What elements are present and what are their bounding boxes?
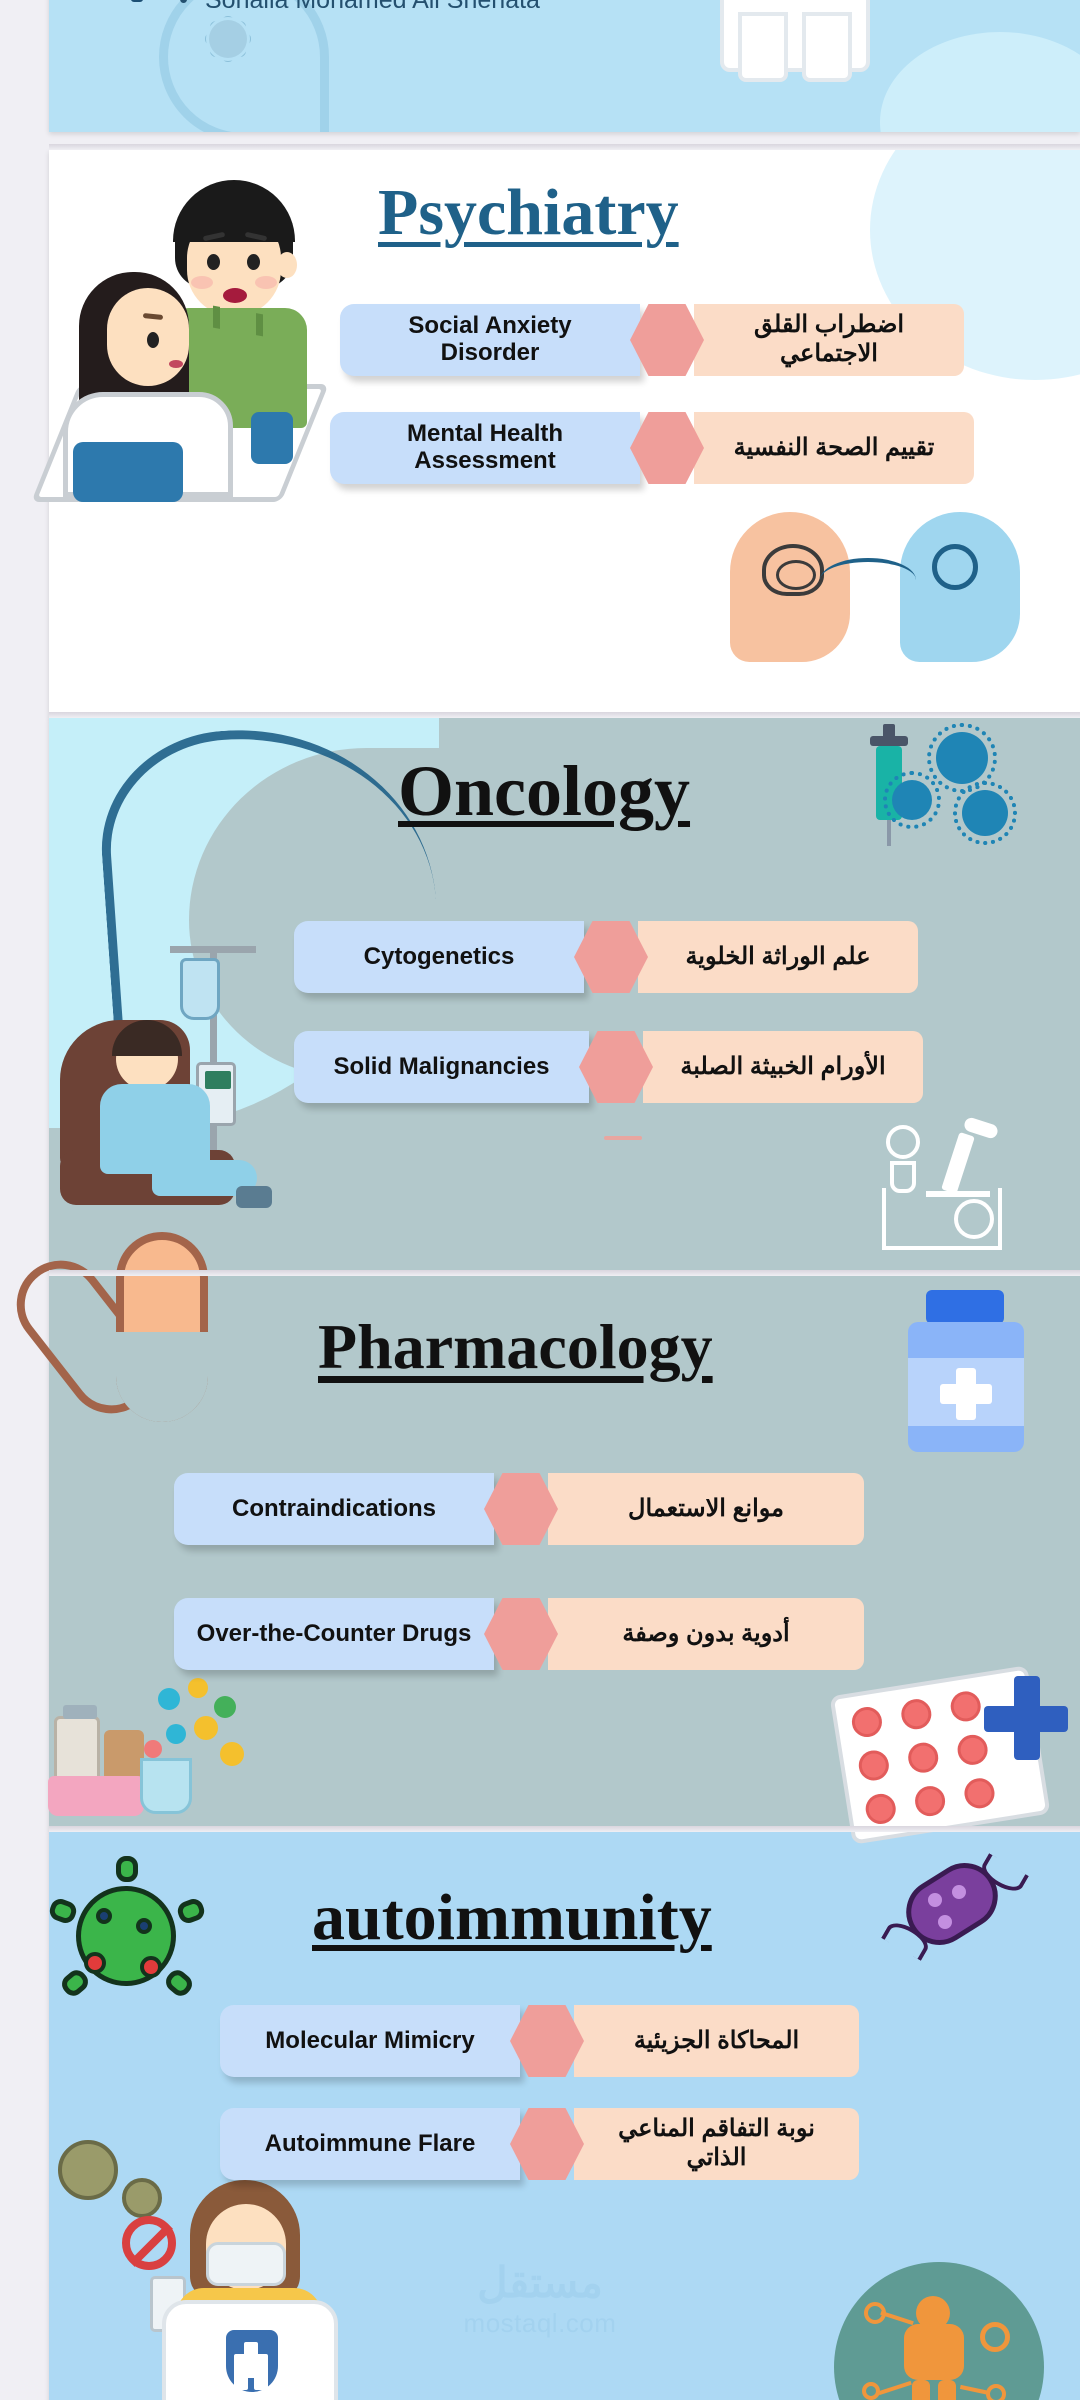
page-title-psychiatry: Psychiatry — [378, 175, 679, 251]
virus-icon — [48, 1858, 208, 2018]
accent-bar — [131, 0, 143, 2]
virus-icon — [890, 726, 1030, 856]
slide-separator — [49, 1270, 1080, 1276]
term-english: Mental Health Assessment — [330, 412, 640, 484]
decorative-blob — [880, 32, 1080, 132]
term-english: Contraindications — [174, 1473, 494, 1545]
term-arabic: المحاكاة الجزيئية — [574, 2005, 859, 2077]
iv-bag-icon — [180, 958, 220, 1020]
term-arabic: أدوية بدون وصفة — [548, 1598, 864, 1670]
hexagon-connector-icon — [574, 921, 648, 993]
term-row[interactable]: Cytogenetics علم الوراثة الخلوية — [294, 921, 918, 993]
psychiatry-illustration — [55, 180, 345, 490]
term-row[interactable]: Solid Malignancies الأورام الخبيثة الصلب… — [294, 1031, 923, 1103]
list-item: Sohaila Mohamed Ali Shehata — [177, 0, 623, 20]
slide-separator — [49, 1826, 1080, 1832]
term-row[interactable]: Molecular Mimicry المحاكاة الجزيئية — [220, 2005, 859, 2077]
hexagon-connector-icon — [484, 1598, 558, 1670]
term-arabic: نوبة التفاقم المناعي الذاتي — [574, 2108, 859, 2180]
slide-deck: Mai Talaat Mohamed Mohamed Khalil Sohail… — [0, 0, 1080, 2400]
hexagon-connector-icon — [510, 2108, 584, 2180]
capsule-icon — [32, 1272, 242, 1452]
page-title-autoimmunity: autoimmunity — [312, 1880, 712, 1956]
slide-team-roster[interactable]: Mai Talaat Mohamed Mohamed Khalil Sohail… — [49, 0, 1080, 132]
term-english: Cytogenetics — [294, 921, 584, 993]
term-english: Solid Malignancies — [294, 1031, 589, 1103]
term-row[interactable]: Contraindications موانع الاستعمال — [174, 1473, 864, 1545]
term-row[interactable]: Social Anxiety Disorder اضطراب القلق الا… — [340, 304, 964, 376]
term-english: Autoimmune Flare — [220, 2108, 520, 2180]
slide-separator — [49, 712, 1080, 718]
medical-cross-icon — [980, 1672, 1072, 1764]
brain-heads-icon — [720, 500, 1020, 680]
term-row[interactable]: Mental Health Assessment تقييم الصحة الن… — [330, 412, 974, 484]
hexagon-connector-icon — [510, 2005, 584, 2077]
term-english: Molecular Mimicry — [220, 2005, 520, 2077]
bacteria-icon — [880, 1845, 1030, 1995]
hexagon-connector-icon — [630, 304, 704, 376]
term-english: Social Anxiety Disorder — [340, 304, 640, 376]
term-arabic: الأورام الخبيثة الصلبة — [643, 1031, 923, 1103]
slide-separator — [49, 144, 1080, 150]
page-title-oncology: Oncology — [398, 750, 690, 833]
virus-icon — [209, 20, 247, 58]
term-arabic: موانع الاستعمال — [548, 1473, 864, 1545]
hexagon-connector-icon — [484, 1473, 558, 1545]
biotech-circle-icon — [834, 2262, 1044, 2400]
chemotherapy-patient-illustration — [60, 1010, 300, 1240]
medicine-bottle-icon — [890, 1290, 1050, 1470]
term-row[interactable]: Over-the-Counter Drugs أدوية بدون وصفة — [174, 1598, 864, 1670]
shield-icon — [226, 2330, 278, 2392]
hygiene-girl-illustration — [150, 2180, 400, 2400]
doctor-illustration — [680, 0, 910, 72]
pharmacy-jars-illustration — [48, 1672, 278, 1832]
term-english: Over-the-Counter Drugs — [174, 1598, 494, 1670]
roster-name-list: Mai Talaat Mohamed Mohamed Khalil Sohail… — [177, 0, 623, 20]
microscope-icon — [868, 1115, 1028, 1250]
hexagon-connector-icon — [579, 1031, 653, 1103]
face-mask-icon — [206, 2242, 286, 2286]
term-arabic: اضطراب القلق الاجتماعي — [694, 304, 964, 376]
term-row[interactable]: Autoimmune Flare نوبة التفاقم المناعي ال… — [220, 2108, 859, 2180]
term-arabic: تقييم الصحة النفسية — [694, 412, 974, 484]
term-arabic: علم الوراثة الخلوية — [638, 921, 918, 993]
page-title-pharmacology: Pharmacology — [318, 1310, 713, 1384]
hexagon-connector-icon — [630, 412, 704, 484]
stray-underline-mark — [604, 1136, 642, 1140]
